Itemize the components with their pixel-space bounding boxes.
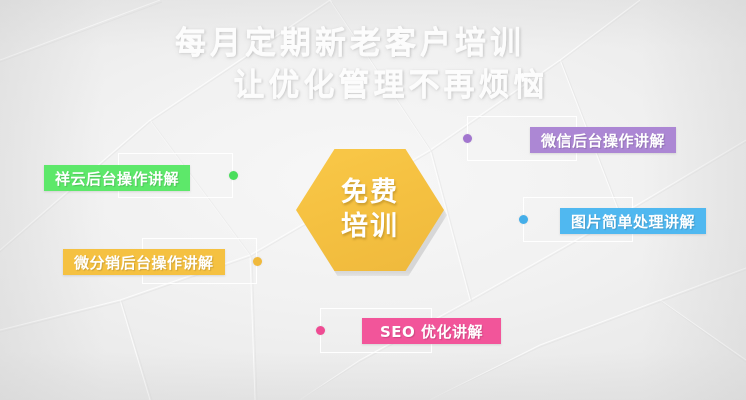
hexagon-text: 免费 培训 xyxy=(296,149,444,271)
label-text-tupian: 图片简单处理讲解 xyxy=(571,211,695,232)
promo-banner: 每月定期新老客户培训 让优化管理不再烦恼 祥云后台操作讲解 微分销后台操作讲解 … xyxy=(0,0,746,400)
label-chip-weifenxiao[interactable]: 微分销后台操作讲解 xyxy=(63,249,225,275)
label-text-weixin: 微信后台操作讲解 xyxy=(541,130,665,151)
connector-dot-weixin xyxy=(463,134,472,143)
hexagon-text-line-2: 培训 xyxy=(341,211,399,243)
connector-dot-seo xyxy=(316,326,325,335)
connector-dot-xiangyun xyxy=(229,171,238,180)
connector-dot-weifenxiao xyxy=(253,257,262,266)
connector-dot-tupian xyxy=(519,215,528,224)
label-chip-xiangyun[interactable]: 祥云后台操作讲解 xyxy=(44,165,190,191)
label-text-xiangyun: 祥云后台操作讲解 xyxy=(55,168,179,189)
center-hexagon[interactable]: 免费 培训 xyxy=(296,149,444,271)
label-chip-weixin[interactable]: 微信后台操作讲解 xyxy=(530,127,676,153)
label-chip-tupian[interactable]: 图片简单处理讲解 xyxy=(560,208,706,234)
hexagon-text-line-1: 免费 xyxy=(341,177,399,209)
label-text-weifenxiao: 微分销后台操作讲解 xyxy=(74,252,214,273)
label-chip-seo[interactable]: SEO 优化讲解 xyxy=(362,318,501,344)
label-text-seo: SEO 优化讲解 xyxy=(380,321,483,342)
